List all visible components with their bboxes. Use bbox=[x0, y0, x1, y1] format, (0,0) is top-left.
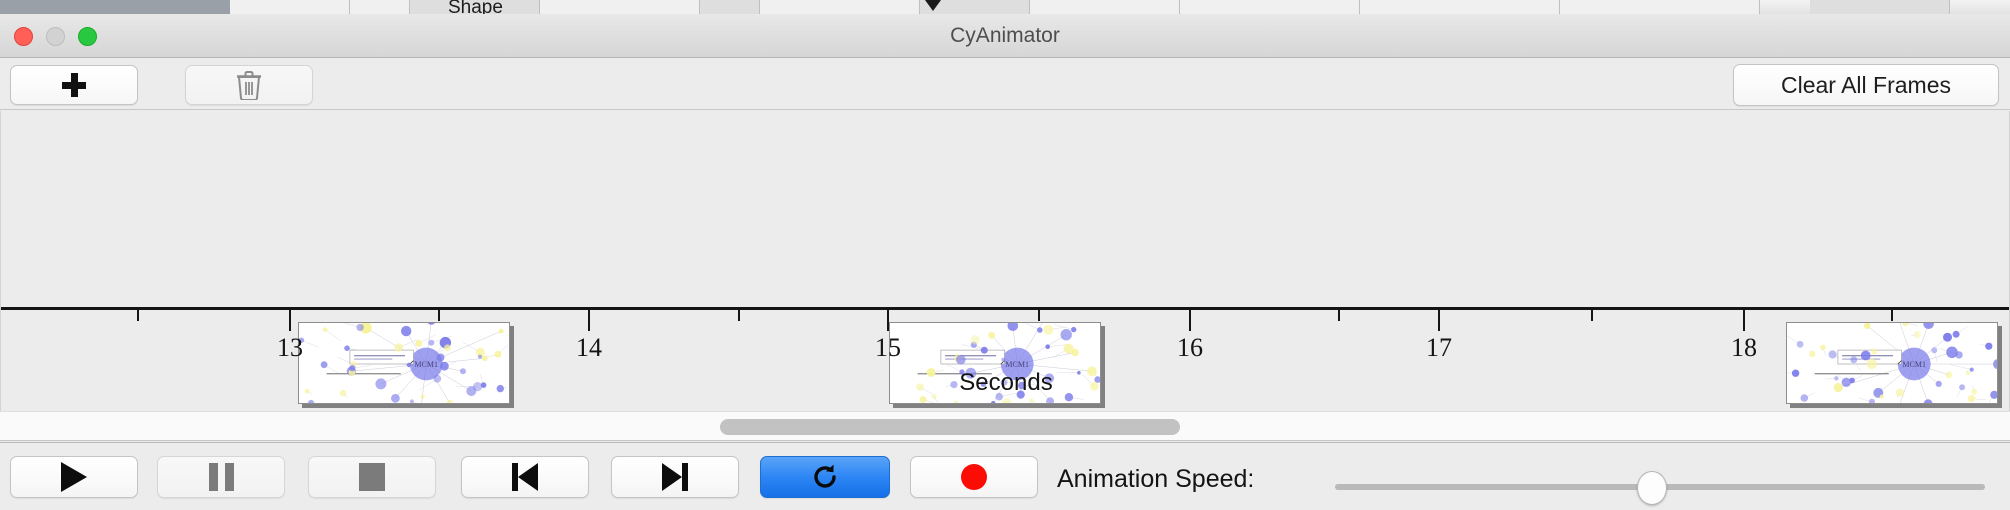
cyanimator-window: Shape CyAnimator Clear All Frames bbox=[0, 0, 2010, 510]
axis-tick bbox=[588, 310, 590, 331]
background-cell bbox=[350, 0, 410, 14]
axis-title: Seconds bbox=[1, 369, 2010, 397]
add-frame-button[interactable] bbox=[10, 65, 138, 105]
delete-frame-button[interactable] bbox=[185, 65, 313, 105]
background-cell bbox=[760, 0, 920, 14]
play-icon bbox=[61, 462, 87, 492]
background-cell bbox=[1810, 0, 1950, 14]
record-icon bbox=[961, 464, 987, 490]
skip-back-button[interactable] bbox=[461, 456, 589, 498]
background-cell bbox=[700, 0, 760, 14]
play-button[interactable] bbox=[10, 456, 138, 498]
record-button[interactable] bbox=[910, 456, 1038, 498]
background-cell bbox=[1360, 0, 1560, 14]
axis-tick-label: 13 bbox=[277, 333, 303, 363]
background-cell bbox=[1030, 0, 1180, 14]
svg-text:MCM1: MCM1 bbox=[1005, 360, 1029, 369]
axis-tick bbox=[438, 310, 440, 321]
background-cell bbox=[540, 0, 700, 14]
skip-forward-button[interactable] bbox=[611, 456, 739, 498]
axis-tick bbox=[1338, 310, 1340, 321]
loop-icon bbox=[810, 462, 840, 492]
axis-tick bbox=[1038, 310, 1040, 321]
timeline-axis bbox=[1, 307, 2010, 310]
axis-tick bbox=[137, 310, 139, 321]
axis-tick bbox=[289, 310, 291, 331]
plus-icon bbox=[62, 73, 86, 97]
timeline-panel[interactable]: MCM1 MCM1 MCM1 12131415161718 Seconds bbox=[0, 111, 2010, 411]
axis-tick-label: 16 bbox=[1177, 333, 1203, 363]
skip-forward-icon bbox=[662, 463, 688, 491]
background-window-strip: Shape bbox=[0, 0, 2010, 14]
pause-icon bbox=[209, 463, 234, 491]
svg-text:MCM1: MCM1 bbox=[1902, 360, 1926, 369]
pause-button[interactable] bbox=[157, 456, 285, 498]
background-window-label: Shape bbox=[448, 0, 503, 14]
frame-toolbar: Clear All Frames bbox=[0, 58, 2010, 110]
background-cell bbox=[1560, 0, 1760, 14]
axis-tick-label: 18 bbox=[1731, 333, 1757, 363]
title-bar: CyAnimator bbox=[0, 14, 2010, 58]
axis-tick-label: 15 bbox=[875, 333, 901, 363]
axis-tick bbox=[887, 310, 889, 331]
background-cell bbox=[1180, 0, 1360, 14]
background-toolbar-dark bbox=[0, 0, 230, 14]
stop-button[interactable] bbox=[308, 456, 436, 498]
timeline-scrollbar[interactable] bbox=[0, 411, 2010, 441]
axis-tick-label: 14 bbox=[576, 333, 602, 363]
axis-tick bbox=[1438, 310, 1440, 331]
axis-tick bbox=[1743, 310, 1745, 331]
svg-text:MCM1: MCM1 bbox=[414, 360, 438, 369]
background-caret-icon bbox=[925, 0, 941, 11]
animation-speed-slider-thumb[interactable] bbox=[1637, 471, 1667, 505]
trash-icon bbox=[236, 70, 262, 100]
clear-all-frames-button[interactable]: Clear All Frames bbox=[1733, 64, 1999, 106]
axis-tick-label: 17 bbox=[1426, 333, 1452, 363]
loop-button[interactable] bbox=[760, 456, 890, 498]
clear-all-frames-label: Clear All Frames bbox=[1781, 72, 1951, 99]
stop-icon bbox=[359, 463, 385, 491]
animation-speed-label: Animation Speed: bbox=[1057, 465, 1254, 494]
axis-tick bbox=[738, 310, 740, 321]
background-cell bbox=[230, 0, 350, 14]
axis-tick bbox=[1591, 310, 1593, 321]
axis-tick bbox=[1891, 310, 1893, 321]
window-title: CyAnimator bbox=[0, 24, 2010, 48]
scrollbar-thumb[interactable] bbox=[720, 419, 1180, 435]
skip-back-icon bbox=[512, 463, 538, 491]
axis-tick bbox=[1189, 310, 1191, 331]
playback-control-bar: Animation Speed: bbox=[0, 442, 2010, 510]
